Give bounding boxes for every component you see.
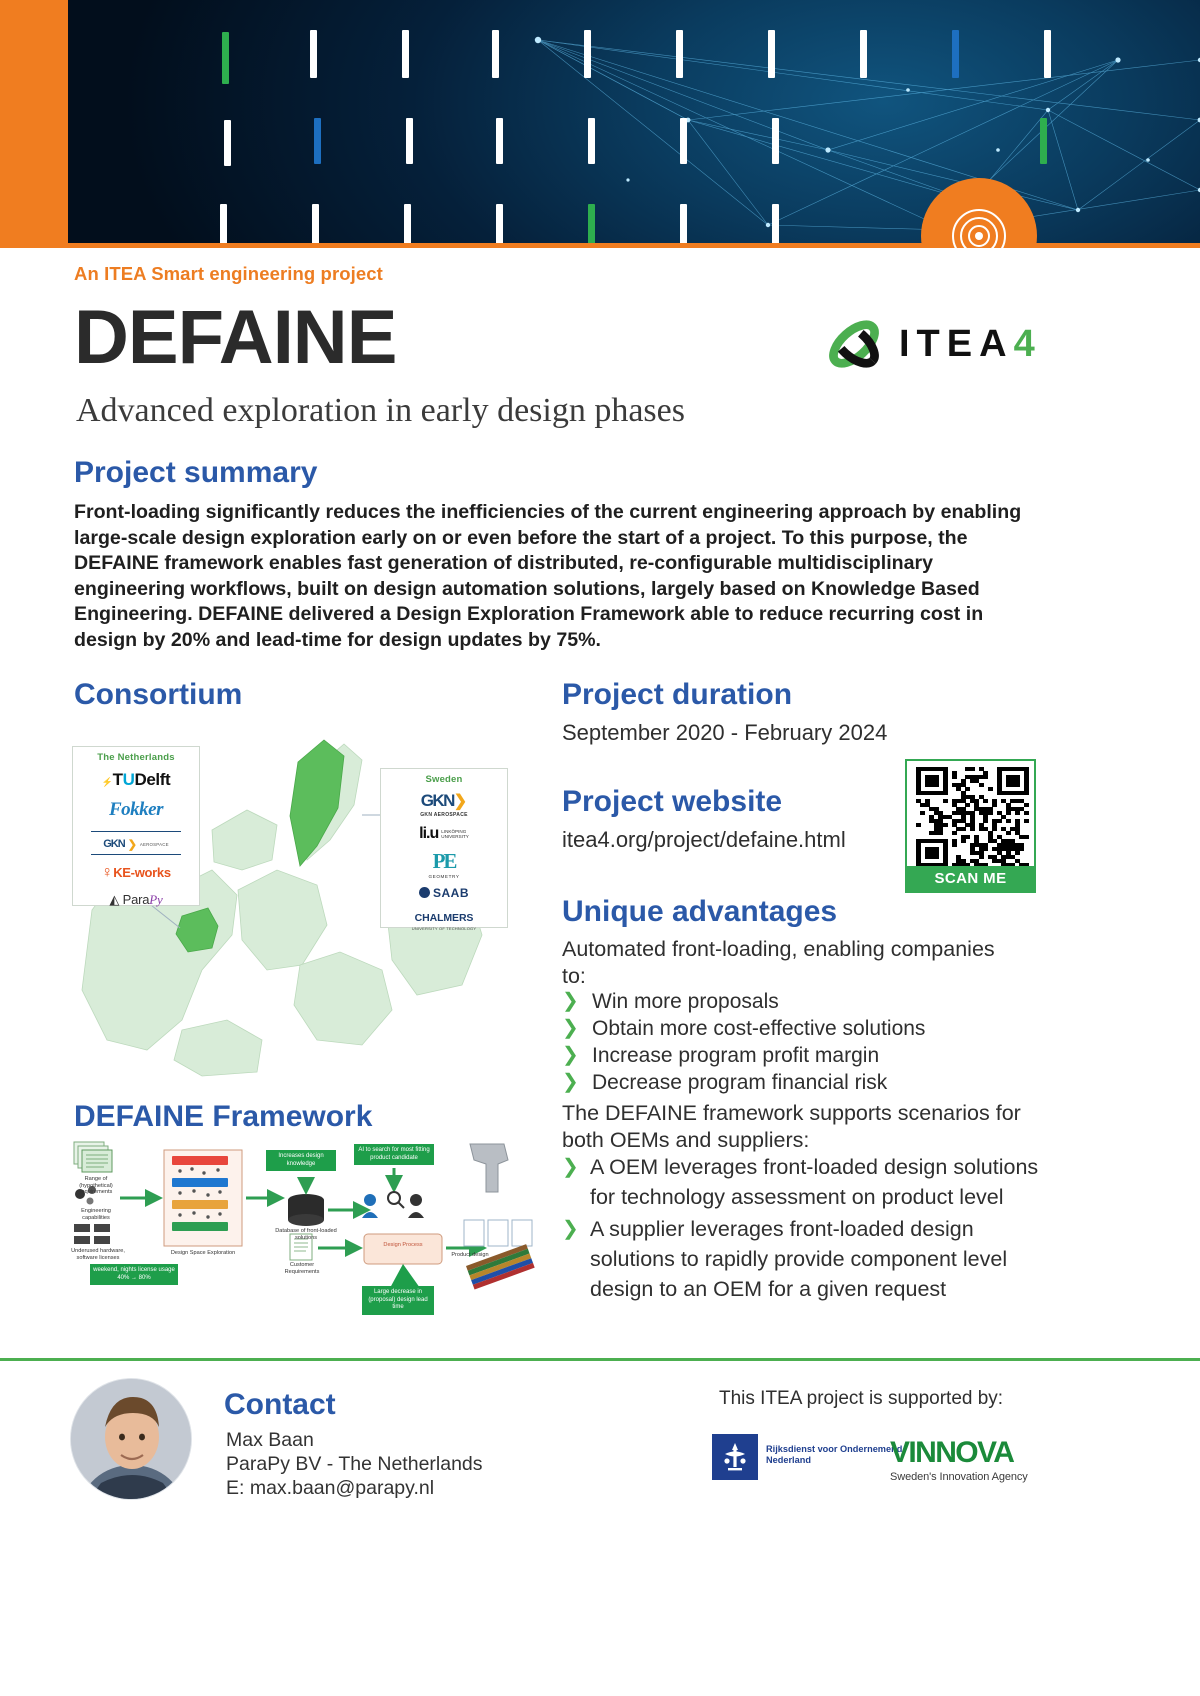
contact-details: Max Baan ParaPy BV - The Netherlands E: … (226, 1428, 483, 1500)
list-item-label: Increase program profit margin (592, 1042, 879, 1069)
logo-chalmers: CHALMERSUNIVERSITY OF TECHNOLOGY (381, 908, 507, 931)
qr-code-box[interactable]: SCAN ME (905, 759, 1036, 893)
vinnova-logo-text: VINNOVA (890, 1436, 1028, 1470)
logo-gkn-aerospace-nl: GKN❯AEROSPACE (91, 831, 181, 855)
partner-box-netherlands: The Netherlands ⚡TUDelft Fokker GKN❯AERO… (72, 746, 200, 906)
advantages-list: ❯Win more proposals ❯Obtain more cost-ef… (562, 988, 1032, 1096)
rvo-crest-icon (712, 1434, 758, 1480)
list-item: ❯Obtain more cost-effective solutions (562, 1015, 1032, 1042)
framework-heading: DEFAINE Framework (74, 1100, 372, 1134)
logo-parapy: ◭ ParaPy (73, 891, 199, 909)
qr-code-icon (916, 767, 1028, 867)
logo-liu: li.uLINKÖPINGUNIVERSITY (381, 825, 507, 843)
label-customer-requirements: Customer Requirements (274, 1262, 330, 1275)
list-item: ❯Increase program profit margin (562, 1042, 1032, 1069)
framework-diagram: Range of (hypothetical) requirements Eng… (68, 1138, 538, 1328)
logo-fokker: Fokker (73, 799, 199, 821)
chevron-right-icon: ❯ (562, 1214, 590, 1304)
list-item-label: Win more proposals (592, 988, 779, 1015)
contact-heading: Contact (224, 1388, 336, 1422)
box-increase-knowledge: Increases design knowledge (266, 1150, 336, 1171)
vinnova-logo: VINNOVA Sweden's Innovation Agency (890, 1436, 1028, 1483)
list-item: ❯A OEM leverages front-loaded design sol… (562, 1152, 1040, 1212)
box-license-usage: weekend, nights license usage 40% → 80% (90, 1264, 178, 1285)
footer-divider (0, 1358, 1200, 1361)
project-duration-value: September 2020 - February 2024 (562, 720, 887, 746)
poster-root: An ITEA Smart engineering project DEFAIN… (0, 0, 1200, 1696)
itea4-logo: ITEA4 (823, 313, 1048, 375)
partner-box-netherlands-title: The Netherlands (73, 752, 199, 763)
supporters-heading: This ITEA project is supported by: (719, 1388, 1003, 1410)
concentric-rings-icon (951, 208, 1007, 248)
rvo-logo-text: Rijksdienst voor OndernemendNederland (766, 1444, 902, 1466)
project-summary-body: Front-loading significantly reduces the … (74, 500, 1039, 654)
logo-tudelft: ⚡TUDelft (73, 770, 199, 790)
project-kicker: An ITEA Smart engineering project (74, 263, 383, 285)
network-graphic (68, 0, 1200, 243)
label-engineering-capabilities: Engineering capabilities (68, 1208, 124, 1221)
logo-ke-works: ♀KE-works (73, 864, 199, 882)
list-item-label: Obtain more cost-effective solutions (592, 1015, 925, 1042)
unique-advantages-heading: Unique advantages (562, 895, 837, 929)
box-ai-search: AI to search for most fitting product ca… (354, 1144, 434, 1165)
consortium-map: The Netherlands ⚡TUDelft Fokker GKN❯AERO… (62, 720, 532, 1080)
contact-email[interactable]: E: max.baan@parapy.nl (226, 1476, 483, 1500)
avatar (70, 1378, 192, 1500)
logo-gkn-aerospace-se: GKN❯ GKN AEROSPACE (381, 791, 507, 818)
page-title: DEFAINE (74, 300, 396, 376)
qr-scan-label: SCAN ME (907, 866, 1034, 891)
partner-box-sweden-title: Sweden (381, 774, 507, 785)
orange-side-bar (0, 0, 68, 248)
contact-name: Max Baan (226, 1428, 483, 1452)
list-item-label: Decrease program financial risk (592, 1069, 887, 1096)
project-website-heading: Project website (562, 785, 782, 819)
label-database: Database of front-loaded solutions (274, 1228, 338, 1241)
list-item: ❯Decrease program financial risk (562, 1069, 1032, 1096)
chevron-right-icon: ❯ (562, 1152, 590, 1212)
list-item-label: A supplier leverages front-loaded design… (590, 1214, 1040, 1304)
avatar-photo-icon (71, 1379, 192, 1500)
network-mesh-icon (68, 0, 1200, 243)
supporter-logos: Rijksdienst voor OndernemendNederland VI… (712, 1426, 1062, 1492)
chevron-right-icon: ❯ (562, 1042, 592, 1069)
chevron-right-icon: ❯ (562, 1069, 592, 1096)
consortium-heading: Consortium (74, 678, 242, 712)
page-subtitle: Advanced exploration in early design pha… (76, 392, 685, 430)
advantages-intro: Automated front-loading, enabling compan… (562, 936, 1022, 990)
list-item: ❯A supplier leverages front-loaded desig… (562, 1214, 1040, 1304)
itea-orbit-icon (823, 315, 885, 373)
list-item-label: A OEM leverages front-loaded design solu… (590, 1152, 1040, 1212)
chevron-right-icon: ❯ (562, 1015, 592, 1042)
chevron-right-icon: ❯ (562, 988, 592, 1015)
contact-org: ParaPy BV - The Netherlands (226, 1452, 483, 1476)
vinnova-tagline: Sweden's Innovation Agency (890, 1471, 1028, 1483)
project-summary-heading: Project summary (74, 456, 317, 490)
itea-logo-version: 4 (1014, 323, 1035, 365)
project-website-value[interactable]: itea4.org/project/defaine.html (562, 827, 846, 853)
label-product-design: Product design (444, 1252, 496, 1259)
project-duration-heading: Project duration (562, 678, 792, 712)
label-requirements: Range of (hypothetical) requirements (68, 1176, 124, 1196)
label-design-process: Design Process (366, 1242, 440, 1249)
label-design-space-exploration: Design Space Exploration (160, 1250, 246, 1257)
logo-saab: SAAB (381, 885, 507, 903)
advantages-list-2: ❯A OEM leverages front-loaded design sol… (562, 1152, 1040, 1306)
label-underused-hardware: Underused hardware, software licenses (68, 1248, 128, 1261)
itea-logo-text: ITEA4 (899, 323, 1035, 366)
header-banner (0, 0, 1200, 248)
list-item: ❯Win more proposals (562, 988, 1032, 1015)
partner-box-sweden: Sweden GKN❯ GKN AEROSPACE li.uLINKÖPINGU… (380, 768, 508, 928)
logo-pe-geometry: PEGEOMETRY (381, 849, 507, 879)
advantages-intro-2: The DEFAINE framework supports scenarios… (562, 1100, 1032, 1154)
box-decrease-lead-time: Large decrease in (proposal) design lead… (362, 1286, 434, 1315)
